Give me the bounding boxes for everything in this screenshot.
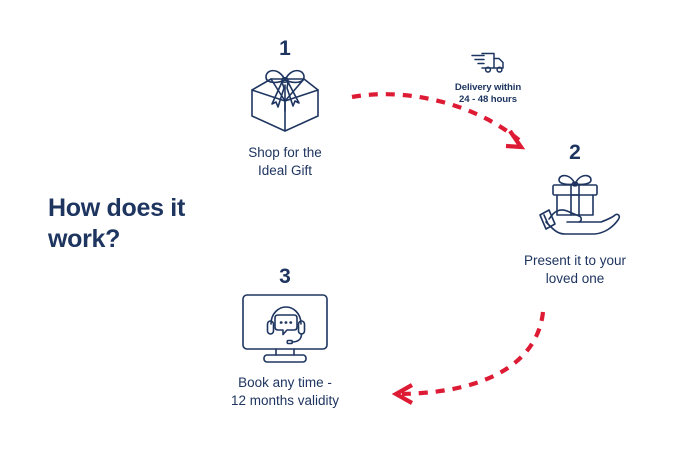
step-1: 1 Shop for the Ideal Gift [206,38,364,180]
gift-box-icon [246,63,324,135]
step-3: 3 Book any time - 12 months validity [196,266,374,410]
infographic-canvas: How does it work? 1 Shop for the Ideal G… [0,0,700,457]
monitor-support-headset-icon [238,291,332,365]
step-3-label: Book any time - 12 months validity [196,374,374,410]
step-1-label: Shop for the Ideal Gift [206,144,364,180]
step-2-number: 2 [496,142,654,163]
arrow-step2-to-step3 [396,312,543,403]
delivery-truck-icon [470,52,506,74]
step-2-label: Present it to your loved one [496,252,654,288]
step-3-number: 3 [196,266,374,287]
page-title: How does it work? [48,193,248,254]
step-1-number: 1 [206,38,364,59]
delivery-note-text: Delivery within 24 - 48 hours [427,82,549,107]
delivery-note: Delivery within 24 - 48 hours [427,52,549,107]
step-2: 2 Present it to your loved one [496,142,654,288]
hand-holding-gift-icon [529,167,621,243]
